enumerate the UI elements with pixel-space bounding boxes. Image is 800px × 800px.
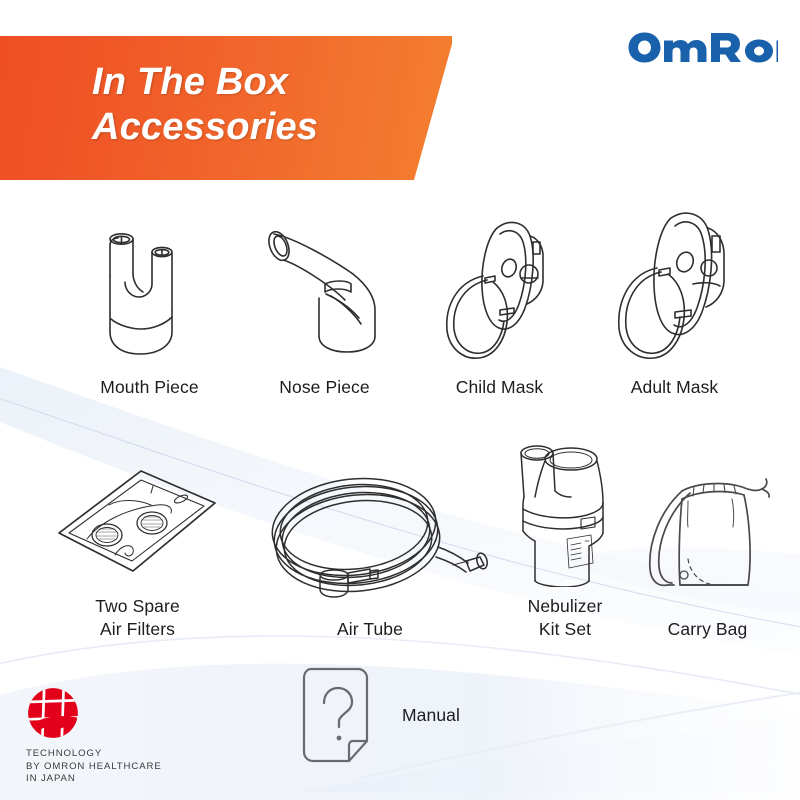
- nose-piece-illustration: [255, 214, 395, 364]
- technology-badge-text: TECHNOLOGY BY OMRON HEALTHCARE IN JAPAN: [26, 748, 216, 786]
- accessory-label: Two Spare Air Filters: [95, 595, 180, 641]
- accessory-label: Air Tube: [337, 618, 403, 641]
- air-tube-coil-illustration: [250, 455, 490, 610]
- accessory-item-nebulizer-kit: Nebulizer Kit Set: [495, 432, 635, 641]
- accessory-item-air-tube: Air Tube: [245, 432, 495, 641]
- technology-badge: TECHNOLOGY BY OMRON HEALTHCARE IN JAPAN: [26, 686, 216, 786]
- accessory-label: Manual: [402, 704, 460, 727]
- accessory-label: Carry Bag: [668, 618, 748, 641]
- accessory-label: Child Mask: [456, 376, 544, 399]
- accessory-row-2: Two Spare Air Filters: [30, 432, 780, 641]
- in-the-box-accessories-page: In The Box Accessories: [0, 0, 800, 800]
- accessory-item-child-mask: Child Mask: [412, 214, 587, 399]
- manual-document-question-icon: [298, 665, 374, 765]
- banner-title-line2: Accessories: [92, 105, 318, 150]
- accessory-label: Nebulizer Kit Set: [528, 595, 603, 641]
- accessory-row-3: Manual: [298, 665, 460, 765]
- accessory-item-nose-piece: Nose Piece: [237, 214, 412, 399]
- carry-bag-illustration: [638, 455, 778, 610]
- nebulizer-kit-illustration: [505, 432, 625, 587]
- child-mask-illustration: [437, 214, 562, 364]
- adult-mask-illustration: [609, 214, 741, 364]
- japan-globe-arrow-emblem: [26, 686, 80, 740]
- accessory-item-adult-mask: Adult Mask: [587, 214, 762, 399]
- accessory-item-carry-bag: Carry Bag: [635, 432, 780, 641]
- banner: In The Box Accessories: [0, 36, 472, 180]
- air-filters-pouch-illustration: [53, 432, 223, 587]
- accessory-label: Nose Piece: [279, 376, 370, 399]
- omron-logo-icon: [628, 28, 778, 64]
- accessory-label: Adult Mask: [631, 376, 719, 399]
- accessory-item-mouth-piece: Mouth Piece: [62, 214, 237, 399]
- accessory-item-air-filters: Two Spare Air Filters: [30, 432, 245, 641]
- accessory-label: Mouth Piece: [100, 376, 198, 399]
- banner-title-line1: In The Box: [92, 60, 288, 105]
- accessory-row-1: Mouth Piece: [62, 214, 762, 399]
- mouth-piece-illustration: [95, 214, 205, 364]
